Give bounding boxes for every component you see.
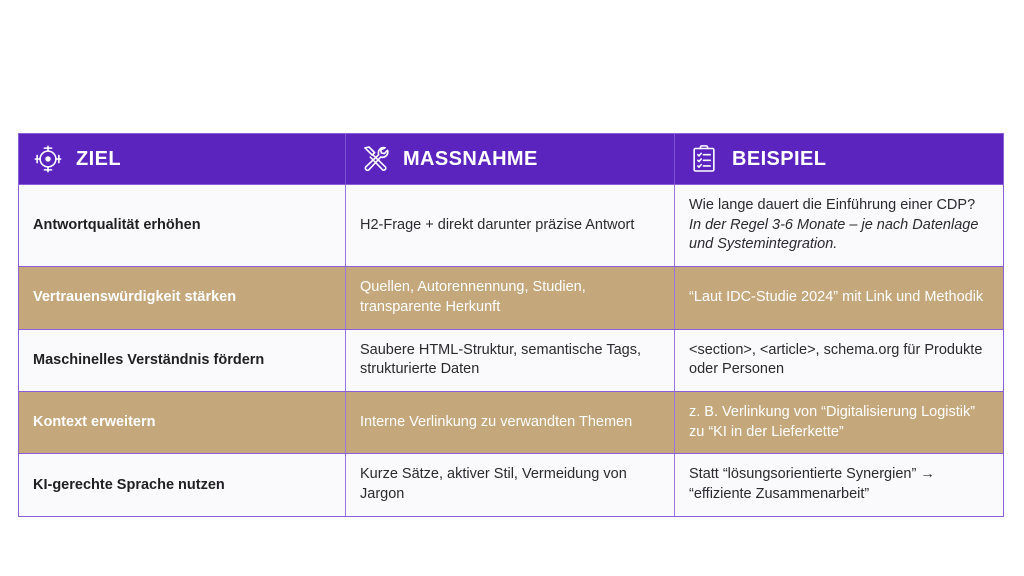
clipboard-checklist-icon — [689, 144, 719, 174]
example-plain-part: Wie lange dauert die Einführung einer CD… — [689, 197, 975, 213]
example-text: Statt “lösungsorientierte Synergien” → “… — [689, 465, 989, 504]
table-header-label-massnahme: MASSNAHME — [403, 149, 538, 169]
table-cell-measure: Quellen, Autorennennung, Studien, transp… — [346, 267, 675, 328]
example-text: “Laut IDC-Studie 2024” mit Link und Meth… — [689, 288, 983, 308]
goal-text: Maschinelles Verständnis fördern — [33, 351, 264, 370]
table-header-cell-massnahme: MASSNAHME — [346, 134, 675, 184]
goal-text: Kontext erweitern — [33, 413, 155, 432]
slide-canvas: ZIEL MASSNAHME — [0, 0, 1024, 576]
table-header-cell-ziel: ZIEL — [19, 134, 346, 184]
measure-text: Kurze Sätze, aktiver Stil, Vermeidung vo… — [360, 465, 660, 504]
goal-text: KI-gerechte Sprache nutzen — [33, 476, 225, 495]
table-cell-measure: Saubere HTML-Struktur, semantische Tags,… — [346, 330, 675, 391]
table-cell-goal: Kontext erweitern — [19, 392, 346, 453]
table-cell-example: z. B. Verlinkung von “Digitalisierung Lo… — [675, 392, 1003, 453]
measure-text: Quellen, Autorennennung, Studien, transp… — [360, 278, 660, 317]
table-row: Antwortqualität erhöhen H2-Frage + direk… — [19, 185, 1003, 267]
table-row: KI-gerechte Sprache nutzen Kurze Sätze, … — [19, 454, 1003, 515]
measure-text: H2-Frage + direkt darunter präzise Antwo… — [360, 216, 634, 236]
example-text: <section>, <article>, schema.org für Pro… — [689, 341, 989, 380]
measure-text: Interne Verlinkung zu verwandten Themen — [360, 413, 632, 433]
table-cell-example: “Laut IDC-Studie 2024” mit Link und Meth… — [675, 267, 1003, 328]
target-crosshair-icon — [33, 144, 63, 174]
table-header-label-ziel: ZIEL — [76, 149, 121, 169]
table-cell-example: <section>, <article>, schema.org für Pro… — [675, 330, 1003, 391]
table-cell-measure: Kurze Sätze, aktiver Stil, Vermeidung vo… — [346, 454, 675, 515]
example-text: z. B. Verlinkung von “Digitalisierung Lo… — [689, 403, 989, 442]
measure-text: Saubere HTML-Struktur, semantische Tags,… — [360, 341, 660, 380]
table-cell-goal: Antwortqualität erhöhen — [19, 185, 346, 266]
table-header-row: ZIEL MASSNAHME — [19, 134, 1003, 185]
example-italic-part: In der Regel 3-6 Monate – je nach Datenl… — [689, 217, 978, 253]
table-header-cell-beispiel: BEISPIEL — [675, 134, 1003, 184]
table-row: Kontext erweitern Interne Verlinkung zu … — [19, 392, 1003, 454]
example-text: Wie lange dauert die Einführung einer CD… — [689, 196, 989, 255]
goal-text: Vertrauenswürdigkeit stärken — [33, 288, 236, 307]
table-cell-example: Wie lange dauert die Einführung einer CD… — [675, 185, 1003, 266]
table-cell-example: Statt “lösungsorientierte Synergien” → “… — [675, 454, 1003, 515]
table-cell-goal: Vertrauenswürdigkeit stärken — [19, 267, 346, 328]
table-header-label-beispiel: BEISPIEL — [732, 149, 826, 169]
table-row: Vertrauenswürdigkeit stärken Quellen, Au… — [19, 267, 1003, 329]
table-row: Maschinelles Verständnis fördern Saubere… — [19, 330, 1003, 392]
hammer-and-wrench-icon — [360, 144, 390, 174]
table-cell-goal: KI-gerechte Sprache nutzen — [19, 454, 346, 515]
comparison-table: ZIEL MASSNAHME — [18, 133, 1004, 517]
goal-text: Antwortqualität erhöhen — [33, 216, 201, 235]
table-cell-measure: H2-Frage + direkt darunter präzise Antwo… — [346, 185, 675, 266]
table-cell-measure: Interne Verlinkung zu verwandten Themen — [346, 392, 675, 453]
table-cell-goal: Maschinelles Verständnis fördern — [19, 330, 346, 391]
